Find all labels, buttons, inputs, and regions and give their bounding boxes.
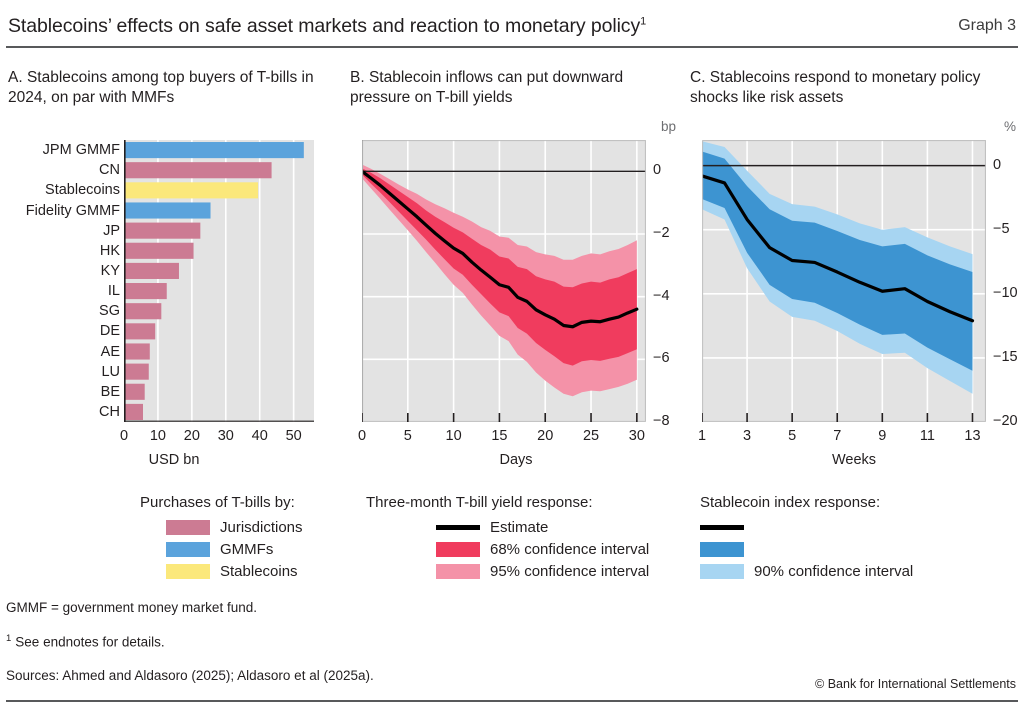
panel-a-category-label: KY [101,264,120,279]
panel-c: C. Stablecoins respond to monetary polic… [688,52,1020,492]
footer-divider [6,700,1018,702]
legend-panel-c: Stablecoin index response: 90% confidenc… [700,494,913,582]
panel-a-category-label: IL [108,284,120,299]
panel-b: B. Stablecoin inflows can put downward p… [348,52,684,492]
legend-swatch-stablecoins [166,564,210,579]
panel-a-category-label: BE [101,385,120,400]
panel-a-category-label: SG [99,304,120,319]
legend-swatch-gmmfs [166,542,210,557]
panel-b-plot-area [362,140,646,422]
legend-item-gmmfs: GMMFs [140,538,303,560]
panel-a-category-label: DE [100,324,120,339]
legend-label-estimate: Estimate [490,519,548,536]
legends-row: Purchases of T-bills by: Jurisdictions G… [0,494,1024,594]
panel-a-category-label: Stablecoins [45,183,120,198]
panel-a-title: A. Stablecoins among top buyers of T-bil… [6,52,342,108]
panel-b-xtick: 0 [347,428,377,444]
panel-a-category-label: JP [103,224,120,239]
panel-b-unit-label: bp [661,119,676,134]
panel-c-plot-area [702,140,986,422]
panel-b-ytick: −2 [653,225,670,241]
legend-swatch-ci95 [436,564,480,579]
panel-b-xtick: 20 [530,428,560,444]
panel-b-ytick: −4 [653,288,670,304]
panel-a-category-label: HK [100,244,120,259]
panel-a-category-label: AE [101,345,120,360]
legend-label-jurisdictions: Jurisdictions [220,519,303,536]
panel-c-unit-label: % [1004,119,1016,134]
panel-c-ytick: −20 [993,413,1018,429]
legend-swatch-ci90 [700,564,744,579]
panel-b-xtick: 15 [484,428,514,444]
panel-b-xtick: 10 [439,428,469,444]
panel-b-xaxis-title: Days [348,452,684,468]
panel-a-xtick: 0 [110,428,138,444]
legend-swatch-ci68 [436,542,480,557]
legend-item-estimate-c [700,516,913,538]
panel-b-title: B. Stablecoin inflows can put downward p… [348,52,684,108]
title-footnote-marker: 1 [640,15,646,27]
panel-b-xtick: 5 [393,428,423,444]
legend-label-ci68: 68% confidence interval [490,541,649,558]
legend-label-gmmfs: GMMFs [220,541,273,558]
panel-b-ytick: 0 [653,162,661,178]
panel-a-category-label: LU [101,365,120,380]
panel-a-category-labels: JPM GMMFCNStablecoinsFidelity GMMFJPHKKY… [6,140,120,422]
note-abbreviation: GMMF = government money market fund. [6,600,1018,615]
page-title: Stablecoins’ effects on safe asset marke… [8,15,646,38]
panel-c-ytick: −15 [993,349,1018,365]
legend-label-ci90: 90% confidence interval [754,563,913,580]
panel-c-xtick: 5 [777,428,807,444]
legend-item-estimate: Estimate [366,516,649,538]
panel-b-ytick: −6 [653,350,670,366]
panels-row: A. Stablecoins among top buyers of T-bil… [0,52,1024,492]
panel-c-ytick: −10 [993,285,1018,301]
panel-b-ytick: −8 [653,413,670,429]
panel-c-ytick: 0 [993,157,1001,173]
panel-c-xtick: 3 [732,428,762,444]
legend-panel-b: Three-month T-bill yield response: Estim… [366,494,649,582]
graph-figure: Stablecoins’ effects on safe asset marke… [0,0,1024,712]
legend-swatch-jurisdictions [166,520,210,535]
panel-c-ytick: −5 [993,221,1010,237]
panel-a-xaxis-title: USD bn [6,452,342,468]
legend-swatch-estimate-line-c [700,525,744,530]
footnote-marker: 1 [6,633,11,644]
legend-panel-a: Purchases of T-bills by: Jurisdictions G… [140,494,303,582]
panel-c-title: C. Stablecoins respond to monetary polic… [688,52,1020,108]
header-divider [6,46,1018,48]
panel-a-xtick: 50 [280,428,308,444]
panel-a-xtick: 40 [246,428,274,444]
figure-header: Stablecoins’ effects on safe asset marke… [0,4,1024,48]
panel-a-xtick: 30 [212,428,240,444]
footnote-text: See endnotes for details. [15,635,164,650]
legend-item-ci68: 68% confidence interval [366,538,649,560]
panel-a-category-label: CN [99,163,120,178]
legend-a-heading: Purchases of T-bills by: [140,494,303,511]
note-footnote-1: 1See endnotes for details. [6,633,1018,650]
panel-c-xtick: 1 [687,428,717,444]
panel-c-xtick: 11 [912,428,942,444]
figure-title-text: Stablecoins’ effects on safe asset marke… [8,15,640,37]
panel-c-xtick: 13 [957,428,987,444]
panel-c-xaxis-title: Weeks [688,452,1020,468]
legend-item-ci-dark-blue [700,538,913,560]
legend-item-ci90: 90% confidence interval [700,560,913,582]
legend-c-heading: Stablecoin index response: [700,494,913,511]
legend-item-stablecoins: Stablecoins [140,560,303,582]
legend-item-jurisdictions: Jurisdictions [140,516,303,538]
panel-a-plot-area [124,140,314,422]
legend-b-heading: Three-month T-bill yield response: [366,494,649,511]
legend-label-stablecoins: Stablecoins [220,563,298,580]
panel-b-xtick: 25 [576,428,606,444]
legend-label-ci95: 95% confidence interval [490,563,649,580]
legend-swatch-estimate-line [436,525,480,530]
panel-a-xtick: 20 [178,428,206,444]
panel-a-category-label: Fidelity GMMF [26,204,120,219]
panel-c-xtick: 9 [867,428,897,444]
graph-number: Graph 3 [958,17,1016,35]
panel-a-xtick: 10 [144,428,172,444]
legend-swatch-ci-dark-blue [700,542,744,557]
panel-a-category-label: JPM GMMF [43,143,120,158]
copyright-notice: © Bank for International Settlements [815,677,1016,691]
panel-a-category-label: CH [99,405,120,420]
panel-b-xtick: 30 [622,428,652,444]
panel-c-xtick: 7 [822,428,852,444]
panel-a: A. Stablecoins among top buyers of T-bil… [6,52,342,492]
legend-item-ci95: 95% confidence interval [366,560,649,582]
